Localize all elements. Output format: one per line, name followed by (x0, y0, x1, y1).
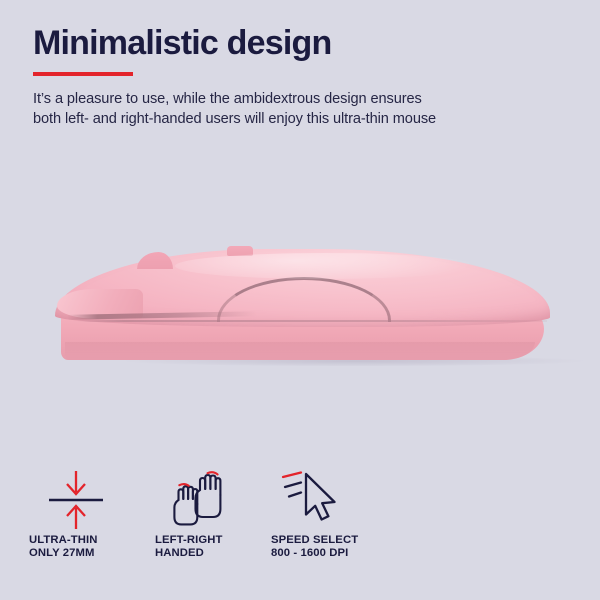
marketing-banner: Minimalistic design It’s a pleasure to u… (0, 0, 600, 600)
header-block: Minimalistic design It’s a pleasure to u… (33, 24, 578, 129)
feature-caption-line-1: ULTRA-THIN (29, 534, 151, 547)
mouse-body-seam (77, 320, 547, 322)
feature-list: ULTRA-THIN ONLY 27MM (27, 466, 573, 561)
feature-caption: ULTRA-THIN ONLY 27MM (27, 534, 151, 561)
page-title: Minimalistic design (33, 24, 578, 62)
cursor-speed-icon (271, 466, 391, 534)
subheading-line-2: both left- and right-handed users will e… (33, 109, 578, 129)
feature-ultra-thin: ULTRA-THIN ONLY 27MM (27, 466, 151, 561)
feature-caption-line-2: HANDED (155, 547, 271, 560)
feature-caption-line-1: SPEED SELECT (271, 534, 391, 547)
feature-caption: SPEED SELECT 800 - 1600 DPI (271, 534, 391, 561)
feature-caption-line-2: ONLY 27MM (29, 547, 151, 560)
mouse-illustration (55, 243, 550, 368)
subheading: It’s a pleasure to use, while the ambide… (33, 89, 578, 129)
accent-underline (33, 72, 133, 76)
feature-left-right-handed: LEFT-RIGHT HANDED (151, 466, 271, 561)
product-image (0, 215, 600, 415)
feature-speed-select: SPEED SELECT 800 - 1600 DPI (271, 466, 391, 561)
subheading-line-1: It’s a pleasure to use, while the ambide… (33, 89, 578, 109)
mouse-scroll-wheel (137, 252, 173, 269)
feature-caption-line-1: LEFT-RIGHT (155, 534, 271, 547)
mouse-dpi-button (227, 246, 253, 256)
two-hands-icon (151, 466, 271, 534)
feature-caption-line-2: 800 - 1600 DPI (271, 547, 391, 560)
feature-caption: LEFT-RIGHT HANDED (151, 534, 271, 561)
thickness-arrows-icon (27, 466, 151, 534)
mouse-base-bevel (65, 342, 535, 360)
